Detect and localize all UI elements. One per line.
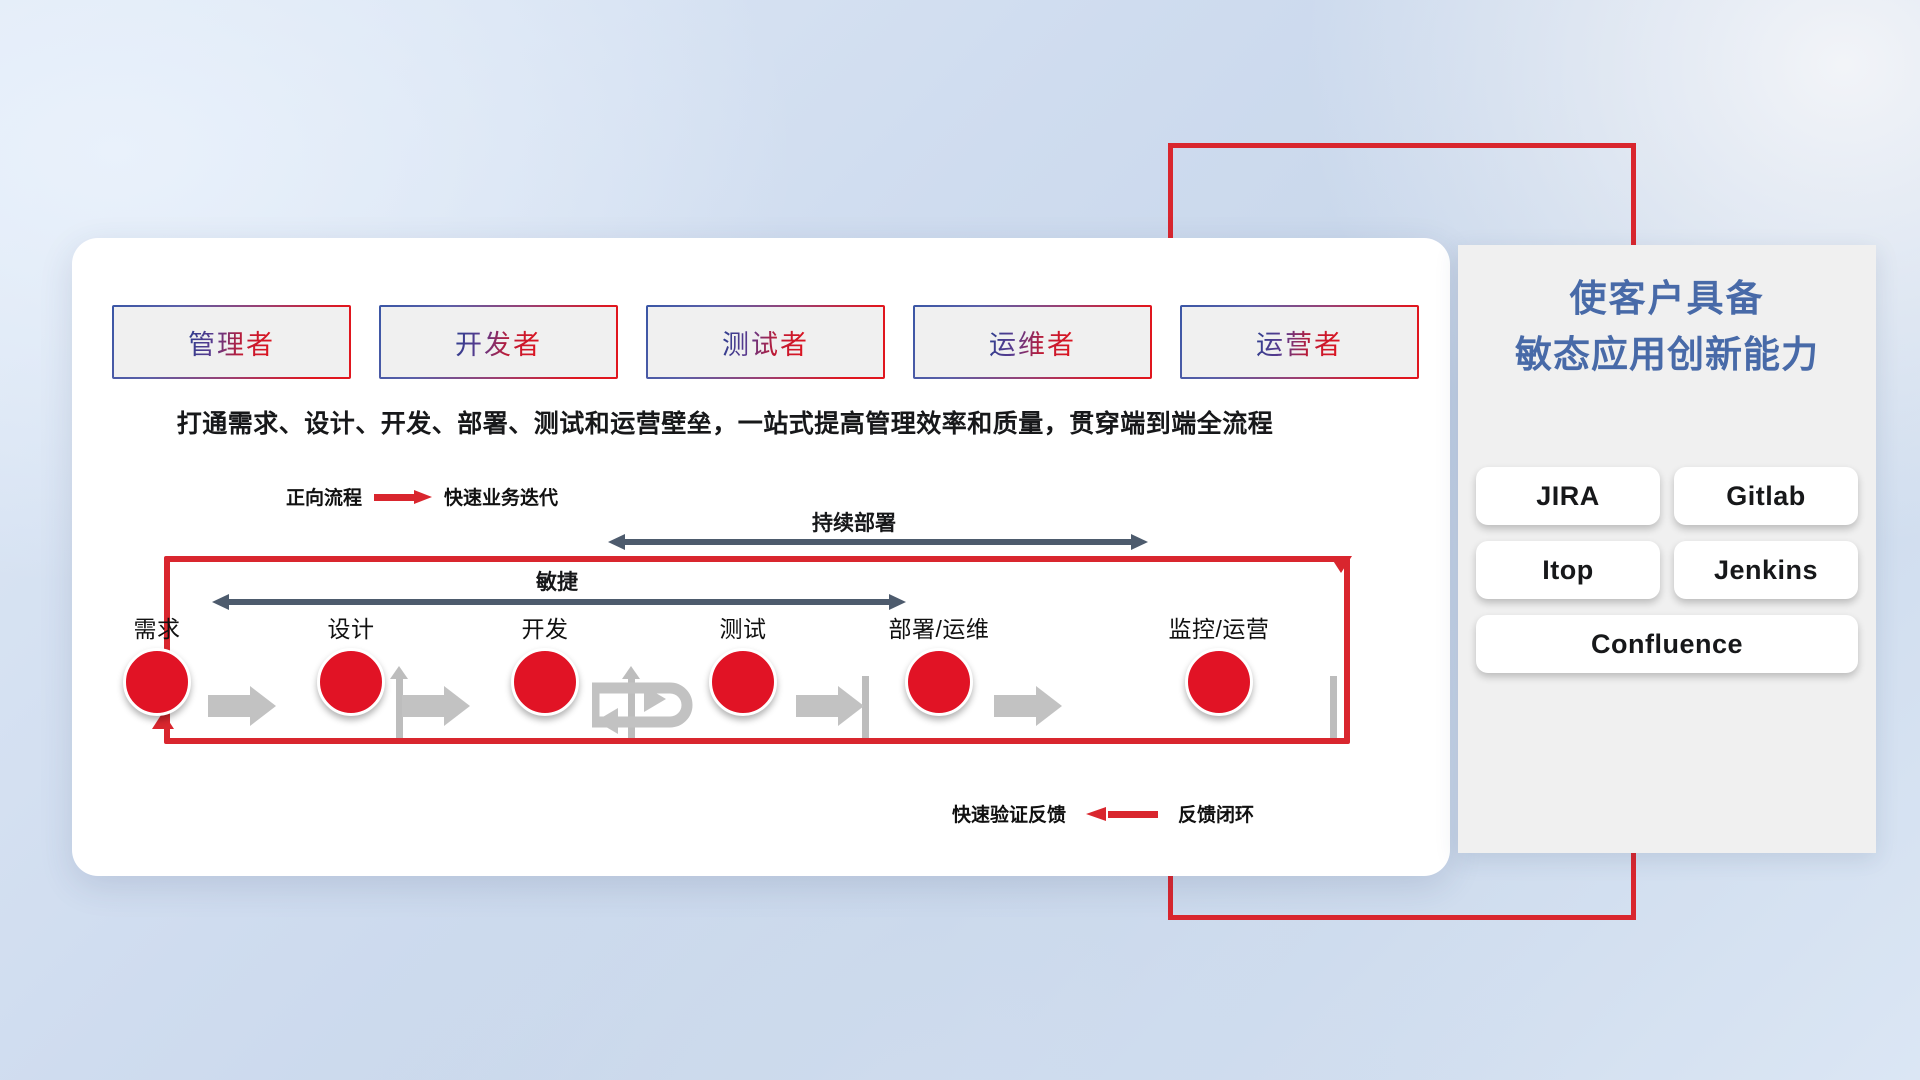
- panel-title-line2: 敏态应用创新能力: [1458, 327, 1876, 383]
- feedback-legend: 快速验证反馈 反馈闭环: [952, 800, 1254, 827]
- node-dot: [1185, 648, 1253, 716]
- arrow-right-red-icon: [374, 490, 432, 503]
- headline-text: 打通需求、设计、开发、部署、测试和运营壁垒，一站式提高管理效率和质量，贯穿端到端…: [0, 404, 1450, 440]
- node-dot: [709, 648, 777, 716]
- role-label: 运维者: [989, 323, 1076, 362]
- role-label: 开发者: [455, 323, 542, 362]
- role-box-row: 管理者 开发者 测试者 运维者 运营者: [112, 305, 1419, 379]
- node-label: 需求: [82, 610, 232, 644]
- arrow-head-left-icon: [608, 534, 625, 550]
- tool-chip-label: Confluence: [1591, 629, 1743, 660]
- tool-chip-gitlab[interactable]: Gitlab: [1674, 467, 1858, 525]
- role-box-tester[interactable]: 测试者: [646, 305, 885, 379]
- tool-chip-jira[interactable]: JIRA: [1476, 467, 1660, 525]
- forward-flow-label: 正向流程: [286, 483, 362, 510]
- tool-chip-itop[interactable]: Itop: [1476, 541, 1660, 599]
- node-dot: [123, 648, 191, 716]
- role-box-developer[interactable]: 开发者: [379, 305, 618, 379]
- node-label: 测试: [668, 610, 818, 644]
- arrow-head: [1036, 686, 1062, 726]
- fast-verify-label: 快速验证反馈: [952, 800, 1066, 827]
- node-dot: [905, 648, 973, 716]
- role-label: 管理者: [188, 323, 275, 362]
- arrow-left-red-icon: [1086, 807, 1158, 821]
- pipeline-node-deploy-ops[interactable]: 部署/运维: [864, 610, 1014, 716]
- arrow-bar: [402, 695, 446, 717]
- span-arrow-continuous-deploy: [608, 534, 1148, 550]
- slide-canvas: 管理者 开发者 测试者 运维者 运营者 打通需求、设计、开发、部署、测试和运营壁…: [0, 0, 1920, 1080]
- tool-chip-list: JIRA Gitlab Itop Jenkins Confluence: [1470, 467, 1864, 673]
- arrow-bar: [624, 539, 1132, 545]
- node-label: 设计: [276, 610, 426, 644]
- loop-arrow-down-icon: [1330, 556, 1352, 573]
- forward-flow-legend: 正向流程 快速业务迭代: [286, 483, 558, 510]
- node-label: 部署/运维: [864, 610, 1014, 644]
- tool-chip-label: Itop: [1542, 555, 1593, 586]
- tool-chip-label: JIRA: [1536, 481, 1600, 512]
- arrow-head: [250, 686, 276, 726]
- role-label: 运营者: [1256, 323, 1343, 362]
- value-panel: 使客户具备 敏态应用创新能力 JIRA Gitlab Itop Jenkins …: [1458, 245, 1876, 853]
- role-label: 测试者: [722, 323, 809, 362]
- arrow-bar: [994, 695, 1038, 717]
- role-box-manager[interactable]: 管理者: [112, 305, 351, 379]
- node-label: 监控/运营: [1144, 610, 1294, 644]
- tool-chip-confluence[interactable]: Confluence: [1476, 615, 1858, 673]
- tool-chip-label: Jenkins: [1714, 555, 1818, 586]
- node-dot: [317, 648, 385, 716]
- pipeline-row: 需求 设计 开发 测试: [112, 610, 1402, 730]
- arrow-bar: [796, 695, 840, 717]
- panel-title: 使客户具备 敏态应用创新能力: [1458, 271, 1876, 382]
- node-label: 开发: [470, 610, 620, 644]
- fast-iteration-label: 快速业务迭代: [444, 483, 558, 510]
- role-box-ops[interactable]: 运维者: [913, 305, 1152, 379]
- feedback-loop-label: 反馈闭环: [1178, 800, 1254, 827]
- panel-title-line1: 使客户具备: [1458, 271, 1876, 327]
- span-label-continuous-deploy: 持续部署: [812, 507, 896, 537]
- arrow-head: [444, 686, 470, 726]
- role-box-operations[interactable]: 运营者: [1180, 305, 1419, 379]
- pipeline-node-monitor-operations[interactable]: 监控/运营: [1144, 610, 1294, 716]
- arrow-bar: [208, 695, 252, 717]
- tool-chip-jenkins[interactable]: Jenkins: [1674, 541, 1858, 599]
- node-dot: [511, 648, 579, 716]
- tool-chip-label: Gitlab: [1726, 481, 1806, 512]
- arrow-head: [838, 686, 864, 726]
- arrow-head-right-icon: [1131, 534, 1148, 550]
